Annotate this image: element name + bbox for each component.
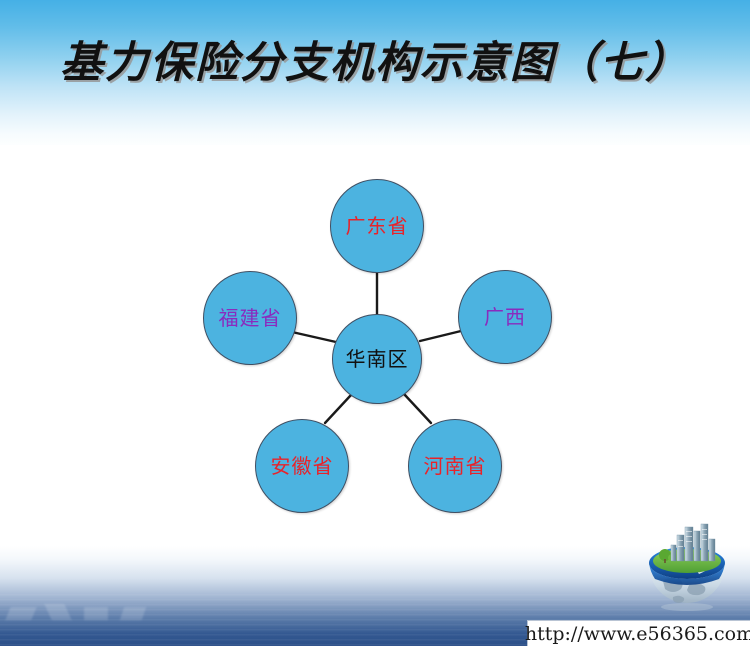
node-branch-anhui[interactable]: 安徽省 (255, 419, 349, 513)
slide-canvas: 基力保险分支机构示意图（七） 华南区 广东省 福建省 广西 安徽省 河南省 (0, 0, 750, 646)
watermark-url: http://www.e56365.com (525, 623, 750, 645)
node-branch-guangxi[interactable]: 广西 (458, 270, 552, 364)
connector-center-to-fujian (292, 332, 336, 342)
globe-city-logo-icon (641, 519, 733, 615)
node-branch-fujian[interactable]: 福建省 (203, 271, 297, 365)
connector-center-to-anhui (325, 395, 351, 423)
node-center-huanan[interactable]: 华南区 (332, 314, 422, 404)
node-label-henan: 河南省 (424, 456, 487, 476)
node-branch-henan[interactable]: 河南省 (408, 419, 502, 513)
node-label-guangdong: 广东省 (346, 216, 409, 236)
connector-center-to-henan (404, 394, 431, 423)
watermark-box: http://www.e56365.com (527, 620, 750, 646)
globe-reflection (661, 603, 713, 611)
node-label-guangxi: 广西 (484, 307, 526, 327)
node-label-huanan: 华南区 (346, 349, 409, 369)
node-label-anhui: 安徽省 (271, 456, 334, 476)
connector-center-to-guangxi (420, 331, 461, 341)
node-branch-guangdong[interactable]: 广东省 (330, 179, 424, 273)
node-label-fujian: 福建省 (219, 308, 282, 328)
